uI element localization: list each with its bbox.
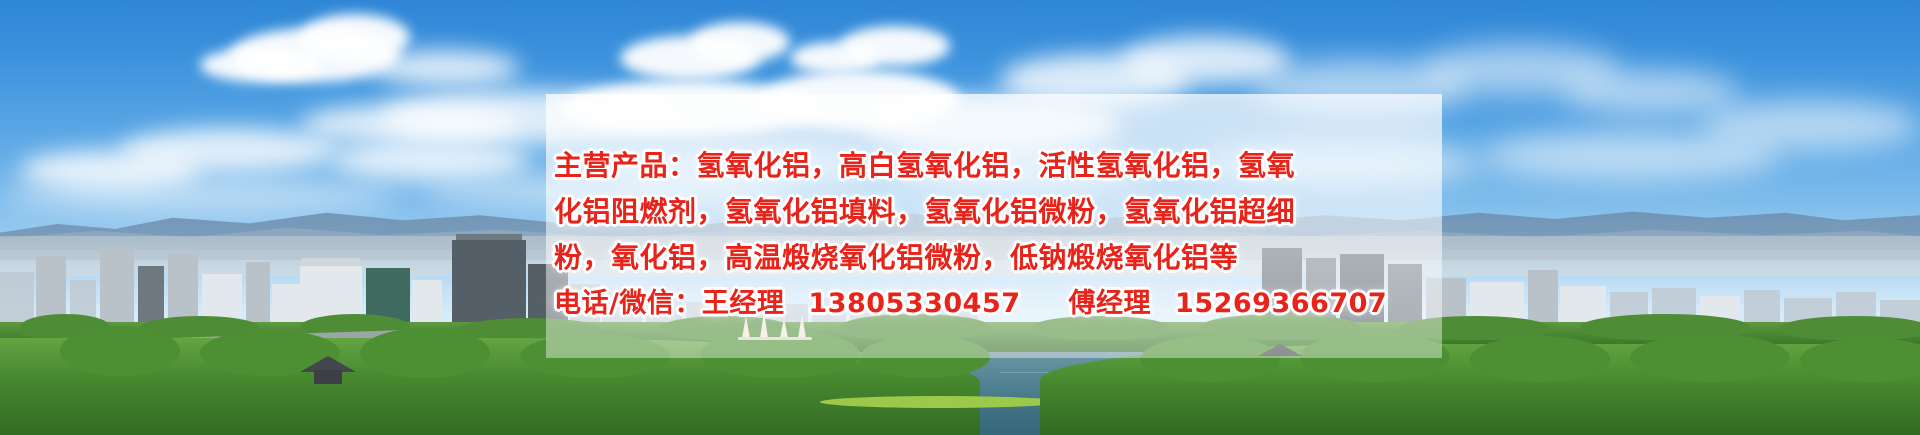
tree-canopy (1470, 336, 1610, 382)
promo-text-block: 主营产品：氢氧化铝，高白氢氧化铝，活性氢氧化铝，氢氧 化铝阻燃剂，氢氧化铝填料，… (546, 94, 1442, 358)
promo-line-1: 主营产品：氢氧化铝，高白氢氧化铝，活性氢氧化铝，氢氧 (546, 143, 1442, 189)
cloud (1700, 100, 1920, 150)
promo-line-2: 化铝阻燃剂，氢氧化铝填料，氢氧化铝微粉，氢氧化铝超细 (546, 189, 1442, 235)
promo-line-3: 粉，氧化铝，高温煅烧氧化铝微粉，低钠煅烧氧化铝等 (546, 235, 1442, 281)
contact-1-phone[interactable]: 13805330457 (808, 288, 1020, 319)
tree-canopy (360, 328, 490, 378)
building-tower-cap (456, 234, 522, 240)
contact-2-name: 傅经理 (1069, 288, 1152, 319)
promotional-banner: 主营产品：氢氧化铝，高白氢氧化铝，活性氢氧化铝，氢氧 化铝阻燃剂，氢氧化铝填料，… (0, 0, 1920, 435)
contact-2-phone[interactable]: 15269366707 (1175, 288, 1387, 319)
tree-canopy (1630, 334, 1790, 382)
cloud (1560, 70, 1740, 114)
cloud (330, 140, 530, 180)
cloud (200, 48, 320, 82)
building (302, 258, 360, 266)
cloud (840, 26, 950, 66)
cloud (300, 104, 520, 144)
grass-shoreline (820, 396, 1060, 408)
tree-cluster (1780, 316, 1920, 340)
cloud (690, 22, 790, 62)
cloud (300, 14, 410, 60)
pavilion-body (314, 370, 342, 384)
cloud (0, 180, 400, 212)
contact-1-name: 王经理 (702, 288, 785, 319)
tree-canopy (60, 326, 180, 376)
contact-line: 电话/微信：王经理13805330457傅经理15269366707 (546, 281, 1442, 327)
cloud (370, 50, 520, 86)
contact-label: 电话/微信： (554, 288, 702, 319)
